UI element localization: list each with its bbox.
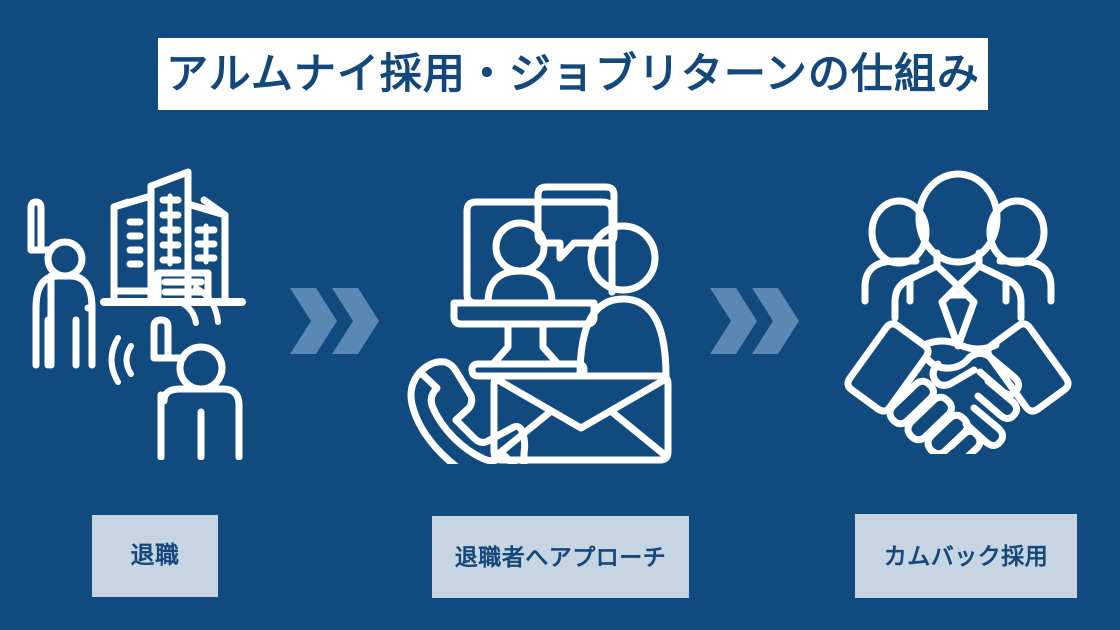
double-chevron-icon: [708, 286, 800, 356]
envelope-mail-icon: [494, 376, 668, 460]
speech-bubble-icon: [538, 187, 614, 258]
person-waving-icon: [31, 202, 92, 365]
label-text-comeback: カムバック採用: [884, 545, 1049, 568]
label-text-approach: 退職者へアプローチ: [455, 546, 667, 569]
title-banner: アルムナイ採用・ジョブリターンの仕組み: [158, 38, 988, 110]
icon-group-comeback: [838, 168, 1078, 454]
label-box-comeback: カムバック採用: [855, 514, 1077, 598]
arrow-approach-to-comeback: [708, 286, 800, 356]
double-chevron-icon: [288, 286, 380, 356]
page-title: アルムナイ採用・ジョブリターンの仕組み: [166, 53, 980, 95]
label-box-approach: 退職者へアプローチ: [432, 516, 689, 598]
infographic-canvas: アルムナイ採用・ジョブリターンの仕組み: [0, 0, 1120, 630]
label-text-resignation: 退職: [131, 544, 180, 568]
handshake-icon: [848, 324, 1068, 454]
office-buildings-icon: [104, 172, 242, 302]
three-people-team-icon: [865, 174, 1051, 346]
icon-group-approach: [398, 172, 698, 464]
label-box-resignation: 退職: [92, 515, 218, 597]
icon-group-resignation: [18, 160, 278, 460]
video-call-monitor-icon: [454, 202, 612, 376]
person-waving-goodbye-icon: [112, 288, 240, 457]
arrow-resignation-to-approach: [288, 286, 380, 356]
